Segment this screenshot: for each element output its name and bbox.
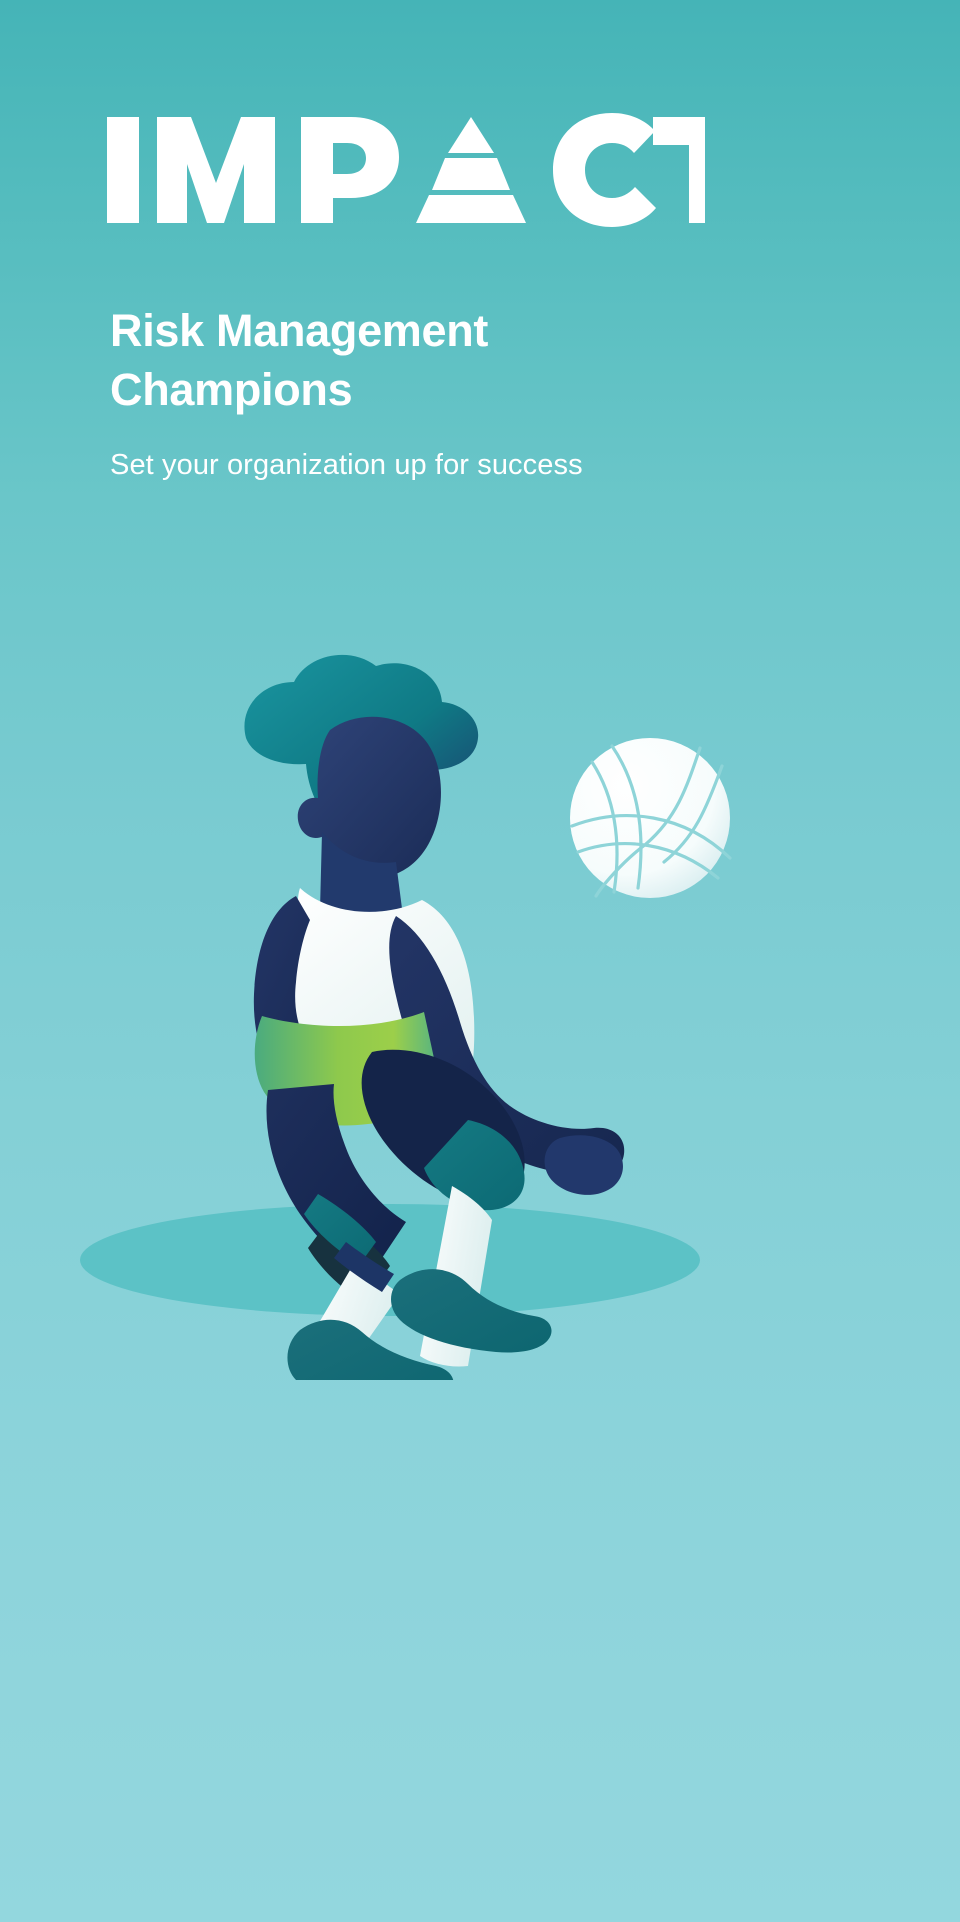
volleyball-player-illustration bbox=[0, 620, 960, 1380]
logo-letters bbox=[107, 113, 705, 227]
page-title: Risk Management Champions bbox=[110, 302, 730, 419]
logo-svg bbox=[105, 95, 705, 245]
volleyball-icon bbox=[570, 738, 730, 898]
page-subtitle: Set your organization up for success bbox=[110, 446, 790, 485]
brand-logo bbox=[105, 95, 705, 245]
illustration-svg bbox=[0, 620, 960, 1380]
poster-root: Risk Management Champions Set your organ… bbox=[0, 0, 960, 1922]
pyramid-icon bbox=[416, 117, 526, 223]
leg-front-thigh bbox=[362, 1050, 525, 1210]
